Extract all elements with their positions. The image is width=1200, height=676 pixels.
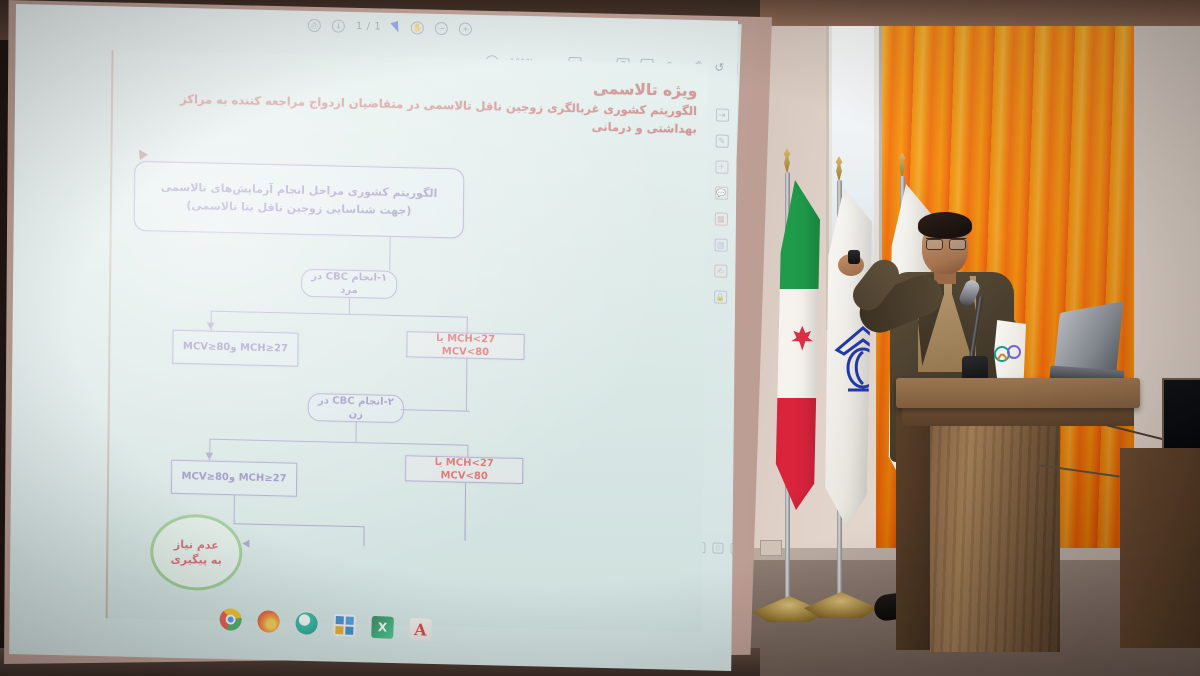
connector — [234, 523, 364, 527]
slide-title-line2: ویژه تالاسمی — [593, 80, 697, 100]
download-icon[interactable]: ↓ — [332, 19, 345, 32]
print-icon[interactable]: ⎙ — [308, 19, 321, 32]
protect-icon[interactable]: 🔒 — [714, 290, 727, 303]
create-pdf-icon[interactable]: ＋ — [715, 160, 728, 173]
sign-icon[interactable]: ✍ — [714, 264, 727, 277]
comment-icon[interactable]: 💬 — [715, 186, 728, 199]
side-desk — [1120, 448, 1200, 648]
iran-emblem-icon — [789, 325, 815, 351]
flowchart-header-box: الگوریتم کشوری مراحل انجام آزمایش‌های تا… — [134, 161, 465, 239]
flowchart-node-step1: ۱-انجام CBC در مرد — [301, 269, 397, 299]
organize-pages-icon[interactable]: ▥ — [714, 238, 727, 251]
connector — [349, 298, 351, 314]
hand-tool-icon[interactable]: ✋ — [411, 21, 424, 34]
desk-flag-emblem-icon — [992, 340, 1022, 370]
projected-desktop: ⎙ ↓ 1 / 1 ✋ − + + 101% ▾ ⇲ ▾ T ▭ ✎ — [9, 4, 738, 671]
connector — [389, 237, 391, 271]
connector — [209, 439, 467, 446]
connector — [211, 311, 467, 318]
export-pdf-icon[interactable]: ⇥ — [715, 108, 728, 121]
arrow-left-icon — [242, 539, 249, 547]
connector — [466, 359, 468, 411]
combine-files-icon[interactable]: ▦ — [714, 212, 727, 225]
cursor-select-icon[interactable] — [391, 21, 402, 34]
firefox-icon[interactable] — [257, 610, 280, 633]
eyeglasses — [926, 238, 966, 247]
arrow-down-icon — [205, 453, 213, 460]
hair — [918, 212, 972, 238]
chrome-icon[interactable] — [219, 608, 242, 631]
arrow-up-left-icon — [135, 147, 148, 160]
pdf-page: ویژه تالاسمی الگوریتم کشوری غربالگری زوج… — [106, 50, 708, 632]
flowchart: الگوریتم کشوری مراحل انجام آزمایش‌های تا… — [108, 154, 709, 628]
acrobat-reader-icon[interactable]: A — [409, 618, 432, 641]
arrow-down-icon — [207, 323, 215, 330]
connector — [400, 409, 470, 412]
connector — [355, 422, 357, 442]
slide-title: ویژه تالاسمی الگوریتم کشوری غربالگری زوج… — [137, 67, 698, 138]
tools-rail: ⇥ ✎ ＋ 💬 ▦ ▥ ✍ 🔒 — [709, 108, 733, 304]
outcome-line2: به پیگیری — [171, 552, 222, 569]
connector — [234, 495, 236, 523]
zoom-in-icon[interactable]: + — [459, 22, 472, 35]
flowchart-node-step2-abnormal: MCH<27 یا MCV<80 — [405, 455, 523, 484]
flowchart-node-step1-normal: MCH≥27 وMCV≥80 — [172, 330, 298, 367]
flowchart-node-step2: ۲-انجام CBC در زن — [308, 393, 404, 423]
podium-top — [896, 378, 1140, 408]
excel-icon[interactable]: X — [371, 616, 394, 639]
pdf-reader-window: ⎙ ↓ 1 / 1 ✋ − + + 101% ▾ ⇲ ▾ T ▭ ✎ — [9, 4, 738, 671]
teal-app-icon[interactable] — [295, 612, 318, 635]
outcome-line1: عدم نیاز — [174, 536, 219, 552]
page-indicator: 1 / 1 — [356, 21, 382, 33]
flowchart-node-step2-normal: MCH≥27 وMCV≥80 — [171, 460, 297, 497]
single-page-icon[interactable]: ▯ — [712, 542, 723, 553]
edit-pdf-icon[interactable]: ✎ — [715, 134, 728, 147]
zoom-out-icon[interactable]: − — [435, 22, 448, 35]
microsoft-store-icon[interactable] — [333, 614, 356, 637]
presentation-clicker — [848, 250, 860, 264]
stamp-icon[interactable]: ↺ — [713, 60, 726, 73]
connector — [464, 483, 466, 541]
wall-socket — [760, 540, 782, 556]
flowchart-outcome-oval: عدم نیاز به پیگیری — [150, 513, 243, 591]
screenshot-stage: ⎙ ↓ 1 / 1 ✋ − + + 101% ▾ ⇲ ▾ T ▭ ✎ — [0, 0, 1200, 676]
podium-wood-grain — [930, 422, 1060, 652]
connector — [363, 526, 365, 546]
flowchart-node-step1-abnormal: MCH<27 یا MCV<80 — [406, 331, 524, 360]
